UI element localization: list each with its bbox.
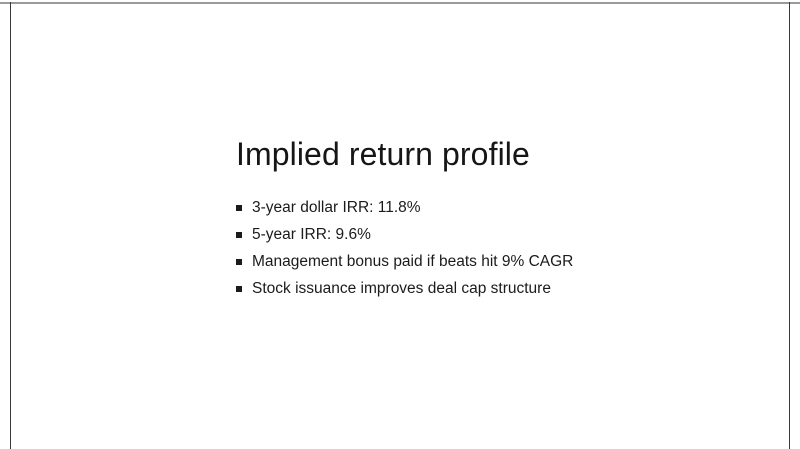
slide-title: Implied return profile (236, 132, 756, 176)
slide-left-border (10, 2, 11, 449)
list-item: Management bonus paid if beats hit 9% CA… (236, 254, 756, 270)
list-item-label: Stock issuance improves deal cap structu… (252, 280, 551, 297)
list-item: Stock issuance improves deal cap structu… (236, 281, 756, 297)
bullet-list: 3-year dollar IRR: 11.8% 5-year IRR: 9.6… (236, 200, 756, 297)
bullet-square-icon (236, 232, 242, 238)
bullet-square-icon (236, 286, 242, 292)
slide-top-rule (0, 2, 800, 4)
list-item-label: 5-year IRR: 9.6% (252, 226, 371, 243)
bullet-square-icon (236, 259, 242, 265)
slide-content: Implied return profile 3-year dollar IRR… (236, 132, 756, 297)
list-item-label: 3-year dollar IRR: 11.8% (252, 199, 421, 216)
slide-right-border (789, 2, 790, 449)
list-item-label: Management bonus paid if beats hit 9% CA… (252, 253, 573, 270)
list-item: 5-year IRR: 9.6% (236, 227, 756, 243)
slide-canvas: Implied return profile 3-year dollar IRR… (0, 0, 800, 449)
list-item: 3-year dollar IRR: 11.8% (236, 200, 756, 216)
bullet-square-icon (236, 205, 242, 211)
